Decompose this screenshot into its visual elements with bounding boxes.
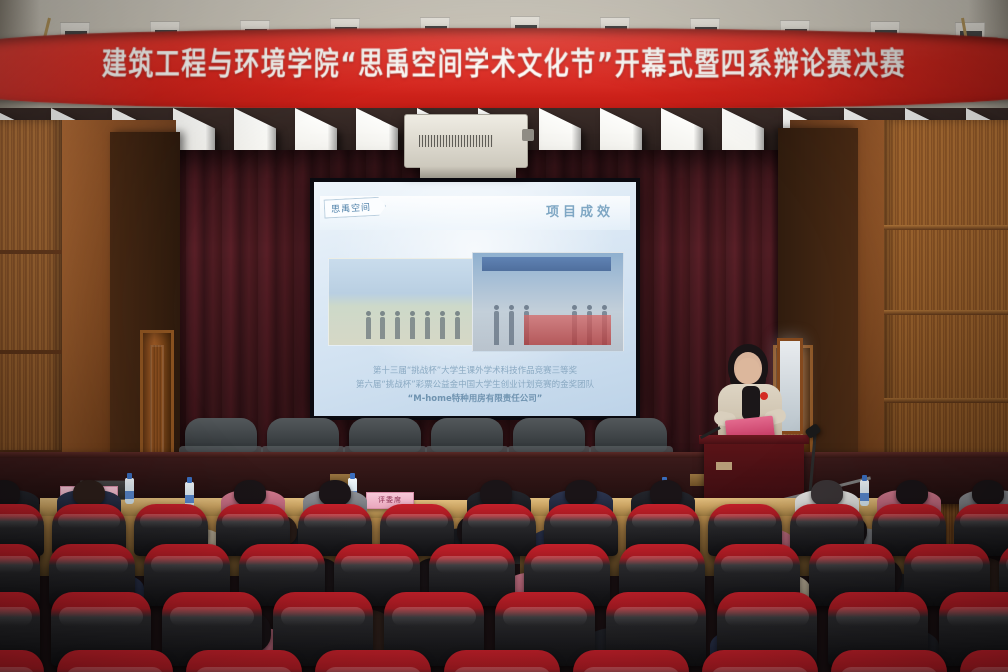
slide-title: 项目成效 [546,201,614,220]
panel-divider [884,398,1008,403]
panel-divider [884,225,1008,230]
audience-member-head [234,480,265,506]
stage-chair [595,418,667,452]
projector-mount [420,166,516,178]
speaker-face [736,358,760,384]
audience-seat [315,650,431,672]
ceiling-projector [404,114,528,168]
event-banner: 建筑工程与环境学院“思禹空间学术文化节”开幕式暨四系辩论赛决赛 [0,28,1008,110]
speaker-inner-top [742,386,760,420]
audience-seat [831,650,947,672]
slide-caption-line-2: 第六届“挑战杯”彩票公益金中国大学生创业计划竞赛的金奖团队 [324,378,626,392]
audience-member-head [811,480,842,506]
slide-photo-outdoors [328,258,496,346]
event-banner-text: 建筑工程与环境学院“思禹空间学术文化节”开幕式暨四系辩论赛决赛 [0,40,1008,84]
audience-member-head [319,480,350,506]
slat-divider [0,350,62,354]
panel-divider [884,310,1008,315]
mic-capsule [804,423,821,439]
audience-seat [702,650,818,672]
auditorium-photo: 建筑工程与环境学院“思禹空间学术文化节”开幕式暨四系辩论赛决赛 思禹空间 项目成… [0,0,1008,672]
slide-caption: 第十三届“挑战杯”大学生课外学术科技作品竞赛三等奖 第六届“挑战杯”彩票公益金中… [324,364,626,406]
slide-photo-award [472,252,624,352]
slide-caption-line-3: “M-home特种用房有限责任公司” [324,392,626,406]
audience-member-head [480,480,511,506]
audience-member-head [565,480,596,506]
podium-plate [716,462,732,470]
audience-seat [444,650,560,672]
audience-member-head [650,480,681,506]
slide-caption-line-1: 第十三届“挑战杯”大学生课外学术科技作品竞赛三等奖 [324,364,626,378]
stage-chair [267,418,339,452]
projection-screen-frame: 思禹空间 项目成效 第十三届 [310,178,640,420]
audience-seat [573,650,689,672]
stage-chair [185,418,257,452]
projector-vent [419,135,493,147]
stage-chair [513,418,585,452]
speaker-badge [760,392,768,400]
stage-chair [431,418,503,452]
stage-chair [349,418,421,452]
slat-divider [0,250,62,254]
audience-member-head [0,480,20,506]
audience-seat [57,650,173,672]
audience-member-head [73,480,104,506]
audience-seat [186,650,302,672]
projection-screen: 思禹空间 项目成效 第十三届 [314,182,636,416]
audience-member-head [972,480,1003,506]
projector-knob [522,129,534,141]
audience-member-head [896,480,927,506]
slide-tag-label: 思禹空间 [324,196,387,218]
audience-seating [0,470,1008,672]
